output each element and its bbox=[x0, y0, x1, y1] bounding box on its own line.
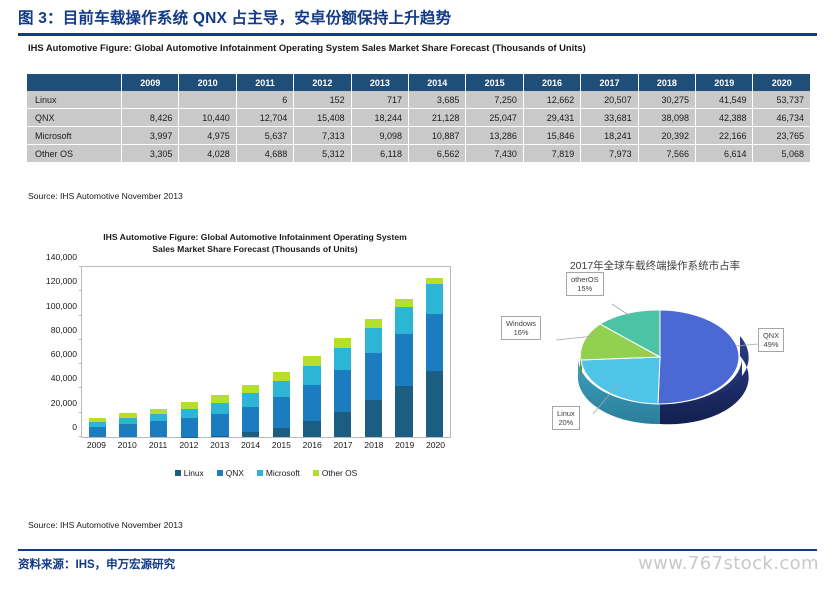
bar-segment-other-os bbox=[365, 319, 382, 328]
footer-source-note: 资料来源：IHS，申万宏源研究 bbox=[18, 556, 175, 572]
table-cell: 9,098 bbox=[351, 127, 408, 145]
table-col-header-2011: 2011 bbox=[236, 74, 293, 91]
header-divider bbox=[18, 33, 817, 36]
bar-y-tick-mark bbox=[79, 266, 82, 267]
table-cell: 3,685 bbox=[409, 91, 466, 109]
bar-slot-2020 bbox=[419, 267, 450, 437]
table-cell: 29,431 bbox=[523, 109, 580, 127]
table-cell: 15,846 bbox=[523, 127, 580, 145]
pie-label-linux-percent: 20% bbox=[557, 418, 575, 427]
table-row-label-other-os: Other OS bbox=[27, 145, 122, 163]
legend-item-microsoft[interactable]: Microsoft bbox=[257, 468, 300, 478]
footer-divider bbox=[18, 549, 817, 551]
bar-segment-microsoft bbox=[273, 381, 290, 397]
bar-segment-other-os bbox=[334, 338, 351, 348]
source-note-top: Source: IHS Automotive November 2013 bbox=[28, 191, 183, 201]
bar-slot-2019 bbox=[389, 267, 420, 437]
bar-slot-2018 bbox=[358, 267, 389, 437]
table-cell: 5,637 bbox=[236, 127, 293, 145]
bar-segment-other-os bbox=[273, 372, 290, 381]
bar-y-tick-mark bbox=[79, 363, 82, 364]
legend-swatch-icon bbox=[257, 470, 263, 476]
bar-stack bbox=[303, 356, 320, 437]
table-cell: 13,286 bbox=[466, 127, 523, 145]
table-row: Linux61527173,6857,25012,66220,50730,275… bbox=[27, 91, 811, 109]
table-col-header-2016: 2016 bbox=[523, 74, 580, 91]
bar-y-tick-mark bbox=[79, 412, 82, 413]
bar-segment-microsoft bbox=[211, 403, 228, 414]
bar-segment-other-os bbox=[242, 385, 259, 393]
bar-y-tick-label: 60,000 bbox=[51, 349, 77, 359]
table-cell: 38,098 bbox=[638, 109, 695, 127]
bar-x-tick-2017: 2017 bbox=[328, 440, 359, 450]
bar-segment-linux bbox=[334, 412, 351, 437]
table-cell: 23,765 bbox=[753, 127, 811, 145]
pie-label-otheros-percent: 15% bbox=[571, 284, 599, 293]
bar-stack bbox=[150, 409, 167, 437]
bar-segment-microsoft bbox=[181, 409, 198, 418]
bar-y-tick-label: 20,000 bbox=[51, 398, 77, 408]
table-cell: 7,250 bbox=[466, 91, 523, 109]
table-cell: 6,562 bbox=[409, 145, 466, 163]
pie-label-qnx-name: QNX bbox=[763, 331, 779, 340]
pie-label-qnx: QNX 49% bbox=[758, 328, 784, 352]
table-cell: 30,275 bbox=[638, 91, 695, 109]
bar-y-tick-mark bbox=[79, 315, 82, 316]
header-band: 图 3：目前车载操作系统 QNX 占主导，安卓份额保持上升趋势 bbox=[18, 8, 817, 34]
bar-stack bbox=[365, 319, 382, 437]
bar-x-tick-2010: 2010 bbox=[112, 440, 143, 450]
bar-segment-qnx bbox=[89, 427, 106, 437]
table-cell: 46,734 bbox=[753, 109, 811, 127]
table-cell: 3,997 bbox=[122, 127, 179, 145]
bar-stack bbox=[211, 395, 228, 437]
table-body: Linux61527173,6857,25012,66220,50730,275… bbox=[27, 91, 811, 162]
pie-label-windows-name: Windows bbox=[506, 319, 536, 328]
bar-x-tick-2011: 2011 bbox=[143, 440, 174, 450]
legend-swatch-icon bbox=[217, 470, 223, 476]
bar-stack bbox=[89, 418, 106, 437]
table-cell: 21,128 bbox=[409, 109, 466, 127]
page-title: 图 3：目前车载操作系统 QNX 占主导，安卓份额保持上升趋势 bbox=[18, 8, 817, 30]
table-cell: 41,549 bbox=[696, 91, 753, 109]
bar-segment-linux bbox=[365, 400, 382, 437]
bar-segment-qnx bbox=[334, 370, 351, 411]
table-col-header-2017: 2017 bbox=[581, 74, 638, 91]
table-col-header-2020: 2020 bbox=[753, 74, 811, 91]
bar-x-tick-2020: 2020 bbox=[420, 440, 451, 450]
table-col-header-2012: 2012 bbox=[294, 74, 351, 91]
pie-label-linux: Linux 20% bbox=[552, 406, 580, 430]
table-cell: 6 bbox=[236, 91, 293, 109]
bar-segment-linux bbox=[273, 428, 290, 437]
bar-x-tick-2015: 2015 bbox=[266, 440, 297, 450]
bar-stack bbox=[395, 299, 412, 437]
table-cell: 53,737 bbox=[753, 91, 811, 109]
bar-x-tick-2014: 2014 bbox=[235, 440, 266, 450]
os-sales-table: 2009201020112012201320142015201620172018… bbox=[27, 74, 811, 162]
bar-y-tick-label: 40,000 bbox=[51, 373, 77, 383]
table-cell: 4,975 bbox=[179, 127, 236, 145]
table-col-header-2019: 2019 bbox=[696, 74, 753, 91]
legend-item-other-os[interactable]: Other OS bbox=[313, 468, 357, 478]
table-col-header-2013: 2013 bbox=[351, 74, 408, 91]
bar-slot-2009 bbox=[82, 267, 113, 437]
bar-y-tick-mark bbox=[79, 339, 82, 340]
bar-slot-2011 bbox=[143, 267, 174, 437]
table-cell: 10,887 bbox=[409, 127, 466, 145]
table-cell: 717 bbox=[351, 91, 408, 109]
bar-slot-2012 bbox=[174, 267, 205, 437]
table-cell: 6,614 bbox=[696, 145, 753, 163]
bar-segment-microsoft bbox=[426, 284, 443, 313]
bar-y-tick-label: 0 bbox=[72, 422, 77, 432]
table-row: QNX8,42610,44012,70415,40818,24421,12825… bbox=[27, 109, 811, 127]
pie-label-otheros: otherOS 15% bbox=[566, 272, 604, 296]
bar-segment-linux bbox=[395, 386, 412, 437]
bar-segment-qnx bbox=[395, 334, 412, 386]
bar-segment-other-os bbox=[303, 356, 320, 366]
pie-chart: 2017年全球车载终端操作系统市占率 bbox=[490, 258, 820, 458]
table-col-header-2014: 2014 bbox=[409, 74, 466, 91]
bar-segment-microsoft bbox=[242, 393, 259, 406]
bar-stack bbox=[426, 278, 443, 437]
bar-slot-2010 bbox=[113, 267, 144, 437]
bar-y-tick-label: 120,000 bbox=[46, 276, 77, 286]
leader-otherOS bbox=[612, 304, 630, 316]
table-row-label-linux: Linux bbox=[27, 91, 122, 109]
table-cell: 7,819 bbox=[523, 145, 580, 163]
legend-label: Other OS bbox=[322, 468, 357, 478]
pie-label-windows-percent: 16% bbox=[506, 328, 536, 337]
table-cell: 7,313 bbox=[294, 127, 351, 145]
table-cell: 152 bbox=[294, 91, 351, 109]
table-cell: 33,681 bbox=[581, 109, 638, 127]
legend-item-qnx[interactable]: QNX bbox=[217, 468, 244, 478]
table-cell: 18,244 bbox=[351, 109, 408, 127]
bar-y-tick-mark bbox=[79, 436, 82, 437]
table-cell: 3,305 bbox=[122, 145, 179, 163]
bar-segment-other-os bbox=[395, 299, 412, 307]
table-col-header-2018: 2018 bbox=[638, 74, 695, 91]
bar-x-axis-labels: 2009201020112012201320142015201620172018… bbox=[81, 440, 451, 450]
bar-segment-qnx bbox=[273, 397, 290, 428]
bar-slot-2015 bbox=[266, 267, 297, 437]
bar-stack bbox=[242, 385, 259, 437]
table-header: 2009201020112012201320142015201620172018… bbox=[27, 74, 811, 91]
bar-y-tick-mark bbox=[79, 290, 82, 291]
table-cell: 5,312 bbox=[294, 145, 351, 163]
bar-chart: IHS Automotive Figure: Global Automotive… bbox=[27, 228, 477, 498]
table-row-label-microsoft: Microsoft bbox=[27, 127, 122, 145]
bar-segment-qnx bbox=[365, 353, 382, 400]
table-caption: IHS Automotive Figure: Global Automotive… bbox=[28, 42, 586, 53]
table-col-header-2010: 2010 bbox=[179, 74, 236, 91]
bar-y-tick-label: 80,000 bbox=[51, 325, 77, 335]
bar-segment-linux bbox=[242, 432, 259, 437]
bar-x-tick-2013: 2013 bbox=[204, 440, 235, 450]
bar-slot-2013 bbox=[205, 267, 236, 437]
table-cell: 10,440 bbox=[179, 109, 236, 127]
table-cell: 7,973 bbox=[581, 145, 638, 163]
pie-label-otheros-name: otherOS bbox=[571, 275, 599, 284]
bar-chart-title: IHS Automotive Figure: Global Automotive… bbox=[35, 232, 475, 255]
table-cell bbox=[179, 91, 236, 109]
pie-chart-title: 2017年全球车载终端操作系统市占率 bbox=[490, 258, 820, 273]
bar-x-tick-2019: 2019 bbox=[389, 440, 420, 450]
os-sales-table-container: 2009201020112012201320142015201620172018… bbox=[27, 74, 811, 162]
bar-segment-microsoft bbox=[303, 366, 320, 385]
bar-segment-linux bbox=[426, 371, 443, 437]
bar-y-tick-label: 140,000 bbox=[46, 252, 77, 262]
legend-label: Linux bbox=[184, 468, 204, 478]
table-row-label-qnx: QNX bbox=[27, 109, 122, 127]
table-cell: 15,408 bbox=[294, 109, 351, 127]
bar-x-tick-2009: 2009 bbox=[81, 440, 112, 450]
bar-stack bbox=[181, 402, 198, 437]
bar-segment-microsoft bbox=[365, 328, 382, 353]
bar-segment-linux bbox=[211, 436, 228, 437]
bar-x-tick-2016: 2016 bbox=[297, 440, 328, 450]
bar-segment-microsoft bbox=[334, 348, 351, 370]
table-cell: 7,430 bbox=[466, 145, 523, 163]
legend-label: Microsoft bbox=[266, 468, 300, 478]
table-cell: 6,118 bbox=[351, 145, 408, 163]
bar-y-tick-label: 100,000 bbox=[46, 301, 77, 311]
pie-label-windows: Windows 16% bbox=[501, 316, 541, 340]
pie-label-qnx-percent: 49% bbox=[763, 340, 779, 349]
bar-y-tick-mark bbox=[79, 387, 82, 388]
bar-segment-other-os bbox=[211, 395, 228, 403]
watermark: www.767stock.com bbox=[638, 553, 819, 574]
table-row: Other OS3,3054,0284,6885,3126,1186,5627,… bbox=[27, 145, 811, 163]
bar-segment-qnx bbox=[426, 314, 443, 371]
table-row: Microsoft3,9974,9755,6377,3139,09810,887… bbox=[27, 127, 811, 145]
table-cell: 5,068 bbox=[753, 145, 811, 163]
bar-chart-title-line2: Sales Market Share Forecast (Thousands o… bbox=[35, 244, 475, 256]
table-cell: 12,662 bbox=[523, 91, 580, 109]
leader-qnx bbox=[736, 344, 758, 346]
bar-stack bbox=[273, 372, 290, 437]
legend-item-linux[interactable]: Linux bbox=[175, 468, 204, 478]
table-corner-cell bbox=[27, 74, 122, 91]
bar-chart-legend: LinuxQNXMicrosoftOther OS bbox=[81, 468, 451, 478]
table-col-header-2015: 2015 bbox=[466, 74, 523, 91]
bar-plot-area: 020,00040,00060,00080,000100,000120,0001… bbox=[81, 266, 451, 438]
bar-segment-qnx bbox=[303, 385, 320, 421]
table-cell: 20,507 bbox=[581, 91, 638, 109]
bar-slot-2016 bbox=[297, 267, 328, 437]
table-cell: 25,047 bbox=[466, 109, 523, 127]
table-cell: 8,426 bbox=[122, 109, 179, 127]
table-cell: 18,241 bbox=[581, 127, 638, 145]
bar-segment-qnx bbox=[119, 424, 136, 437]
legend-swatch-icon bbox=[175, 470, 181, 476]
table-cell: 42,388 bbox=[696, 109, 753, 127]
table-cell: 4,028 bbox=[179, 145, 236, 163]
legend-swatch-icon bbox=[313, 470, 319, 476]
bar-segment-qnx bbox=[211, 414, 228, 436]
table-cell: 4,688 bbox=[236, 145, 293, 163]
table-cell: 12,704 bbox=[236, 109, 293, 127]
table-cell: 20,392 bbox=[638, 127, 695, 145]
pie-chart-graphic bbox=[490, 274, 820, 454]
bar-stack bbox=[119, 413, 136, 437]
legend-label: QNX bbox=[226, 468, 244, 478]
source-note-bottom: Source: IHS Automotive November 2013 bbox=[28, 520, 183, 530]
table-col-header-2009: 2009 bbox=[122, 74, 179, 91]
table-cell bbox=[122, 91, 179, 109]
bar-series-group bbox=[82, 267, 450, 437]
bar-x-tick-2018: 2018 bbox=[358, 440, 389, 450]
table-cell: 22,166 bbox=[696, 127, 753, 145]
bar-slot-2014 bbox=[235, 267, 266, 437]
bar-segment-microsoft bbox=[395, 307, 412, 334]
table-cell: 7,566 bbox=[638, 145, 695, 163]
bar-segment-microsoft bbox=[150, 414, 167, 421]
bar-x-tick-2012: 2012 bbox=[173, 440, 204, 450]
pie-label-linux-name: Linux bbox=[557, 409, 575, 418]
table-header-row: 2009201020112012201320142015201620172018… bbox=[27, 74, 811, 91]
bar-chart-title-line1: IHS Automotive Figure: Global Automotive… bbox=[35, 232, 475, 244]
bar-segment-qnx bbox=[150, 421, 167, 437]
bar-segment-qnx bbox=[181, 418, 198, 437]
bar-stack bbox=[334, 338, 351, 437]
bar-slot-2017 bbox=[327, 267, 358, 437]
bar-segment-linux bbox=[303, 421, 320, 437]
bar-segment-qnx bbox=[242, 407, 259, 433]
